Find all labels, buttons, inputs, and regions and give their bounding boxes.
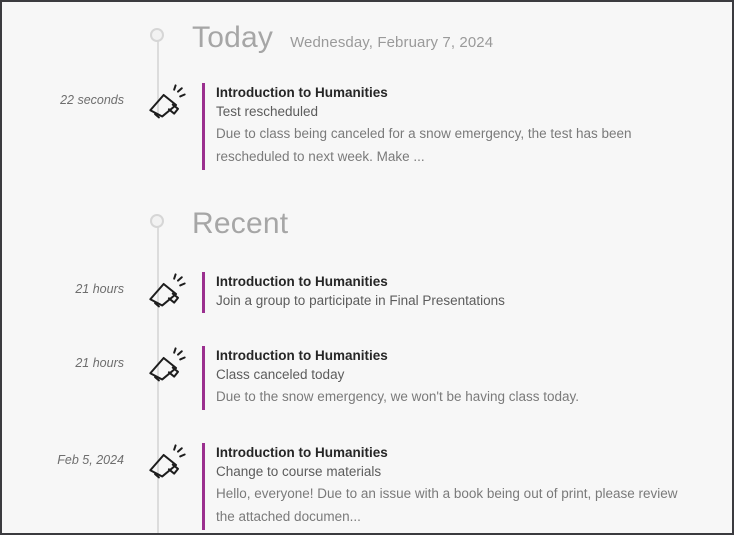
notification-body: Due to class being canceled for a snow e… [216,122,676,168]
notification-stream-window: Today Wednesday, February 7, 2024 Recent… [0,0,734,535]
notification-item[interactable]: 22 seconds Introduction to Humanities Te… [2,80,734,170]
notification-content: Introduction to Humanities Class cancele… [202,346,734,410]
activity-stream: Today Wednesday, February 7, 2024 Recent… [2,2,732,533]
notification-timestamp: 21 hours [2,269,132,296]
notification-timestamp: 22 seconds [2,80,132,107]
notification-timestamp: Feb 5, 2024 [2,440,132,467]
notification-subject: Class canceled today [216,365,734,385]
timeline-node-today [150,28,164,42]
notification-course: Introduction to Humanities [216,83,734,102]
notification-subject: Test rescheduled [216,102,734,122]
notification-icon-cell [132,269,202,315]
notification-course: Introduction to Humanities [216,272,734,291]
timeline-node-recent [150,214,164,228]
section-header-recent: Recent [192,207,288,241]
notification-icon-cell [132,440,202,486]
section-title-recent: Recent [192,207,288,241]
notification-content: Introduction to Humanities Join a group … [202,272,734,313]
notification-item[interactable]: 21 hours Introduction to Humanities Clas… [2,343,734,410]
notification-course: Introduction to Humanities [216,346,734,365]
megaphone-icon [146,84,188,126]
notification-content: Introduction to Humanities Test reschedu… [202,83,734,170]
megaphone-icon [146,273,188,315]
notification-body: Hello, everyone! Due to an issue with a … [216,482,686,528]
notification-icon-cell [132,343,202,389]
section-date-today: Wednesday, February 7, 2024 [290,34,493,51]
notification-item[interactable]: 21 hours Introduction to Humanities Join… [2,269,734,315]
section-title-today: Today [192,21,273,55]
megaphone-icon [146,347,188,389]
megaphone-icon [146,444,188,486]
notification-course: Introduction to Humanities [216,443,734,462]
notification-body: Due to the snow emergency, we won't be h… [216,385,686,408]
notification-timestamp: 21 hours [2,343,132,370]
notification-content: Introduction to Humanities Change to cou… [202,443,734,530]
section-header-today: Today Wednesday, February 7, 2024 [192,21,493,55]
notification-subject: Join a group to participate in Final Pre… [216,291,734,311]
notification-icon-cell [132,80,202,126]
notification-item[interactable]: Feb 5, 2024 Introduction to Humanities C… [2,440,734,530]
notification-subject: Change to course materials [216,462,734,482]
